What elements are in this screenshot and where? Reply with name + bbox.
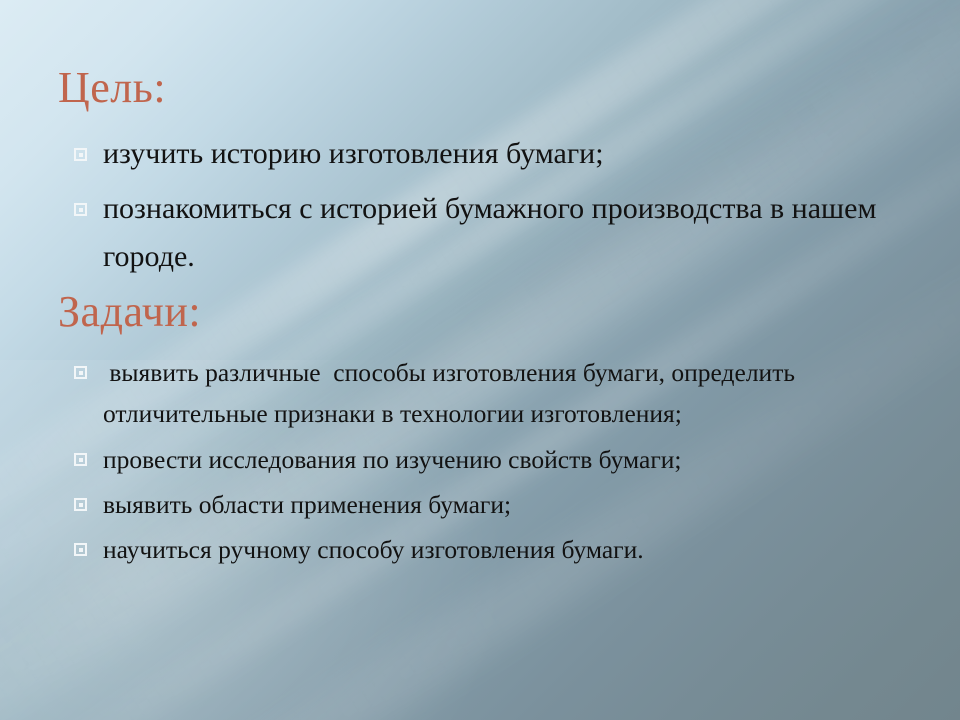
list-item-text: научиться ручному способу изготовления б… — [103, 529, 900, 570]
list-item: выявить области применения бумаги; — [0, 484, 900, 525]
list-item: провести исследования по изучению свойст… — [0, 439, 900, 480]
list-item-text: изучить историю изготовления бумаги; — [103, 130, 900, 178]
presentation-slide: Цель: изучить историю изготовления бумаг… — [0, 0, 960, 720]
square-bullet-icon — [74, 366, 87, 379]
slide-content: Цель: изучить историю изготовления бумаг… — [0, 0, 960, 720]
section-heading-goal: Цель: — [58, 66, 166, 110]
list-item-text: выявить области применения бумаги; — [103, 484, 900, 525]
bullet-list-goal: изучить историю изготовления бумаги; поз… — [0, 130, 900, 288]
square-bullet-icon — [74, 453, 87, 466]
square-bullet-icon — [74, 148, 87, 161]
bullet-list-tasks: выявить различные способы изготовления б… — [0, 352, 900, 574]
section-heading-tasks: Задачи: — [58, 290, 201, 334]
square-bullet-icon — [74, 498, 87, 511]
list-item: выявить различные способы изготовления б… — [0, 352, 900, 434]
list-item-text: познакомиться с историей бумажного произ… — [103, 185, 900, 281]
square-bullet-icon — [74, 203, 87, 216]
list-item: изучить историю изготовления бумаги; — [0, 130, 900, 178]
list-item-text: провести исследования по изучению свойст… — [103, 439, 900, 480]
list-item: познакомиться с историей бумажного произ… — [0, 185, 900, 281]
square-bullet-icon — [74, 543, 87, 556]
list-item: научиться ручному способу изготовления б… — [0, 529, 900, 570]
list-item-text: выявить различные способы изготовления б… — [103, 352, 900, 434]
